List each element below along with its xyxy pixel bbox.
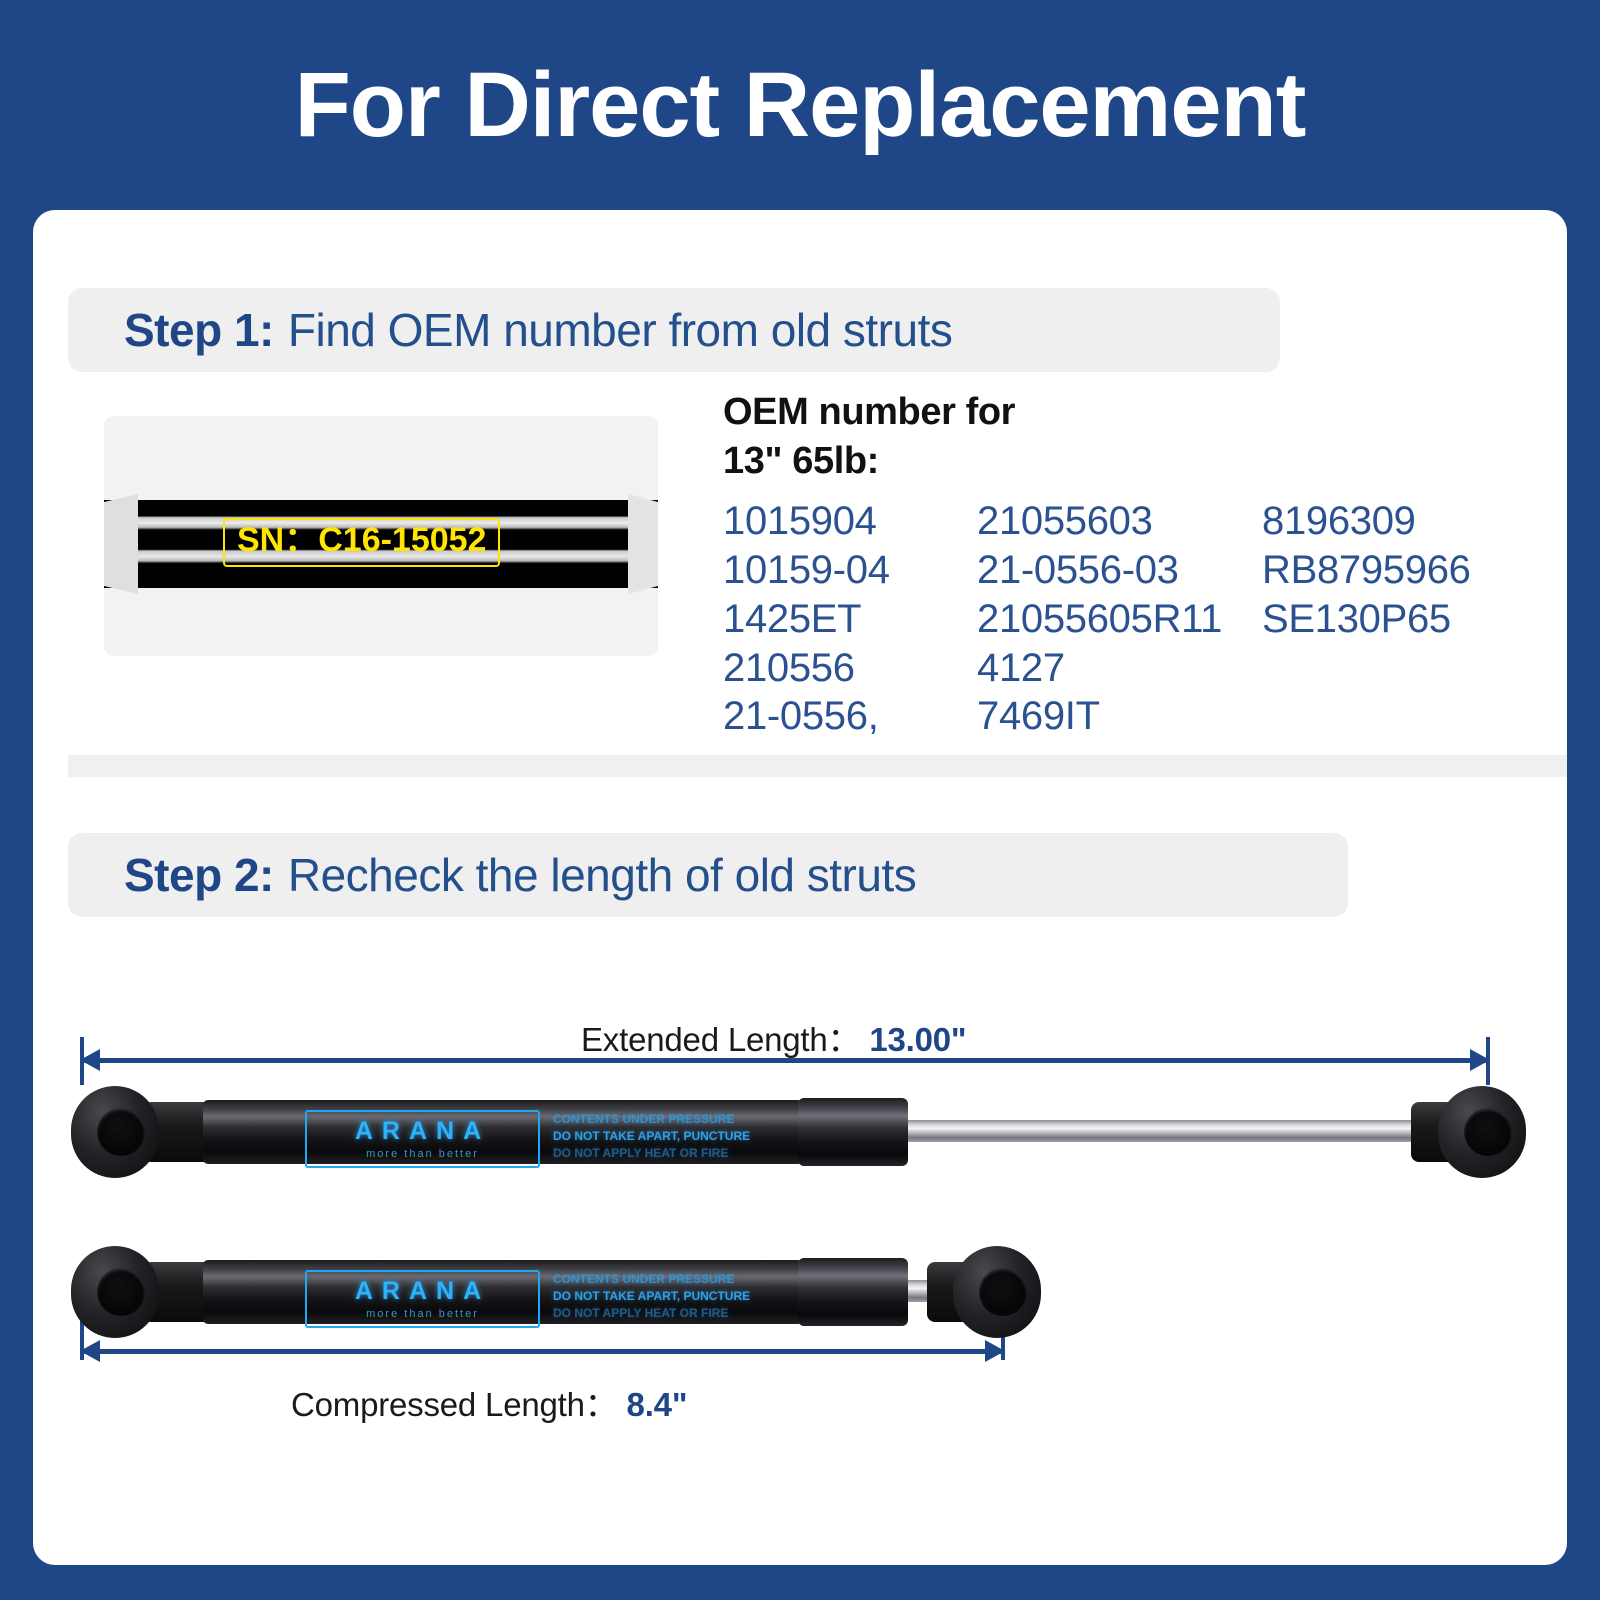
oem-columns: 1015904 10159-04 1425ET 210556 21-0556, … (723, 497, 1523, 741)
brand-logo-box: ARANA more than better (305, 1110, 540, 1168)
arrow-left-icon (80, 1049, 100, 1071)
compressed-length-label: Compressed Length： 8.4" (291, 1378, 687, 1426)
arrow-right-icon (985, 1340, 1005, 1362)
step-1-label: Step 1: (124, 303, 274, 357)
warning-line: DO NOT APPLY HEAT OR FIRE (553, 1145, 750, 1162)
oem-column-2: 21055603 21-0556-03 21055605R11 4127 746… (977, 497, 1262, 741)
serial-number-callout: SN：C16-15052 (223, 518, 500, 567)
oem-number: 21055603 (977, 497, 1262, 546)
oem-heading: OEM number for 13" 65lb: (723, 388, 1523, 485)
step-1-text: Find OEM number from old struts (288, 303, 952, 357)
warning-text-block: CONTENTS UNDER PRESSURE DO NOT TAKE APAR… (553, 1271, 750, 1322)
gas-strut-compressed: ARANA more than better CONTENTS UNDER PR… (43, 1230, 1053, 1355)
oem-column-3: 8196309 RB8795966 SE130P65 (1262, 497, 1522, 741)
strut-eyelet-left (71, 1246, 159, 1338)
strut-tube-right-end (628, 494, 658, 594)
oem-number: 7469IT (977, 692, 1262, 741)
dim-line (80, 1349, 1005, 1354)
strut-eyelet-left (71, 1086, 159, 1178)
oem-number: 21055605R11 (977, 595, 1262, 644)
warning-line: CONTENTS UNDER PRESSURE (553, 1111, 750, 1128)
warning-line: CONTENTS UNDER PRESSURE (553, 1271, 750, 1288)
brand-logo-box: ARANA more than better (305, 1270, 540, 1328)
oem-heading-line-1: OEM number for (723, 388, 1523, 437)
oem-number: 210556 (723, 644, 977, 693)
warning-text-block: CONTENTS UNDER PRESSURE DO NOT TAKE APAR… (553, 1111, 750, 1162)
content-card: Step 1: Find OEM number from old struts … (33, 210, 1567, 1565)
brand-tagline: more than better (366, 1309, 479, 1320)
step-2-label: Step 2: (124, 848, 274, 902)
warning-line: DO NOT TAKE APART, PUNCTURE (553, 1128, 750, 1145)
strut-serial-photo: SN：C16-15052 (104, 416, 658, 656)
oem-number: 1425ET (723, 595, 977, 644)
warning-line: DO NOT TAKE APART, PUNCTURE (553, 1288, 750, 1305)
strut-eyelet-right (953, 1246, 1041, 1338)
dim-line (80, 1058, 1490, 1063)
oem-number: 21-0556-03 (977, 546, 1262, 595)
page-title: For Direct Replacement (295, 59, 1306, 151)
oem-column-1: 1015904 10159-04 1425ET 210556 21-0556, (723, 497, 977, 741)
oem-number: SE130P65 (1262, 595, 1522, 644)
oem-number: 1015904 (723, 497, 977, 546)
strut-cylinder-cap (798, 1258, 908, 1326)
arrow-right-icon (1470, 1049, 1490, 1071)
warning-line: DO NOT APPLY HEAT OR FIRE (553, 1305, 750, 1322)
step-1-header: Step 1: Find OEM number from old struts (68, 288, 1280, 372)
strut-cylinder-cap (798, 1098, 908, 1166)
compressed-dimension-arrow (80, 1338, 1005, 1364)
oem-number: 21-0556, (723, 692, 977, 741)
brand-name: ARANA (355, 1119, 490, 1144)
brand-tagline: more than better (366, 1149, 479, 1160)
page-header: For Direct Replacement (0, 0, 1600, 210)
oem-number-block: OEM number for 13" 65lb: 1015904 10159-0… (723, 388, 1523, 741)
section-separator (68, 755, 1567, 777)
oem-number: 4127 (977, 644, 1262, 693)
brand-name: ARANA (355, 1279, 490, 1304)
oem-number: RB8795966 (1262, 546, 1522, 595)
strut-piston-rod (823, 1120, 1433, 1142)
oem-number: 10159-04 (723, 546, 977, 595)
oem-number: 8196309 (1262, 497, 1522, 546)
compressed-length-text: Compressed Length： (291, 1386, 618, 1423)
step-2-text: Recheck the length of old struts (288, 848, 916, 902)
arrow-left-icon (80, 1340, 100, 1362)
compressed-length-value: 8.4" (627, 1386, 688, 1423)
step-2-header: Step 2: Recheck the length of old struts (68, 833, 1348, 917)
strut-eyelet-right (1438, 1086, 1526, 1178)
strut-tube-left-end (104, 494, 138, 594)
oem-heading-line-2: 13" 65lb: (723, 437, 1523, 486)
gas-strut-extended: ARANA more than better CONTENTS UNDER PR… (43, 1070, 1543, 1195)
